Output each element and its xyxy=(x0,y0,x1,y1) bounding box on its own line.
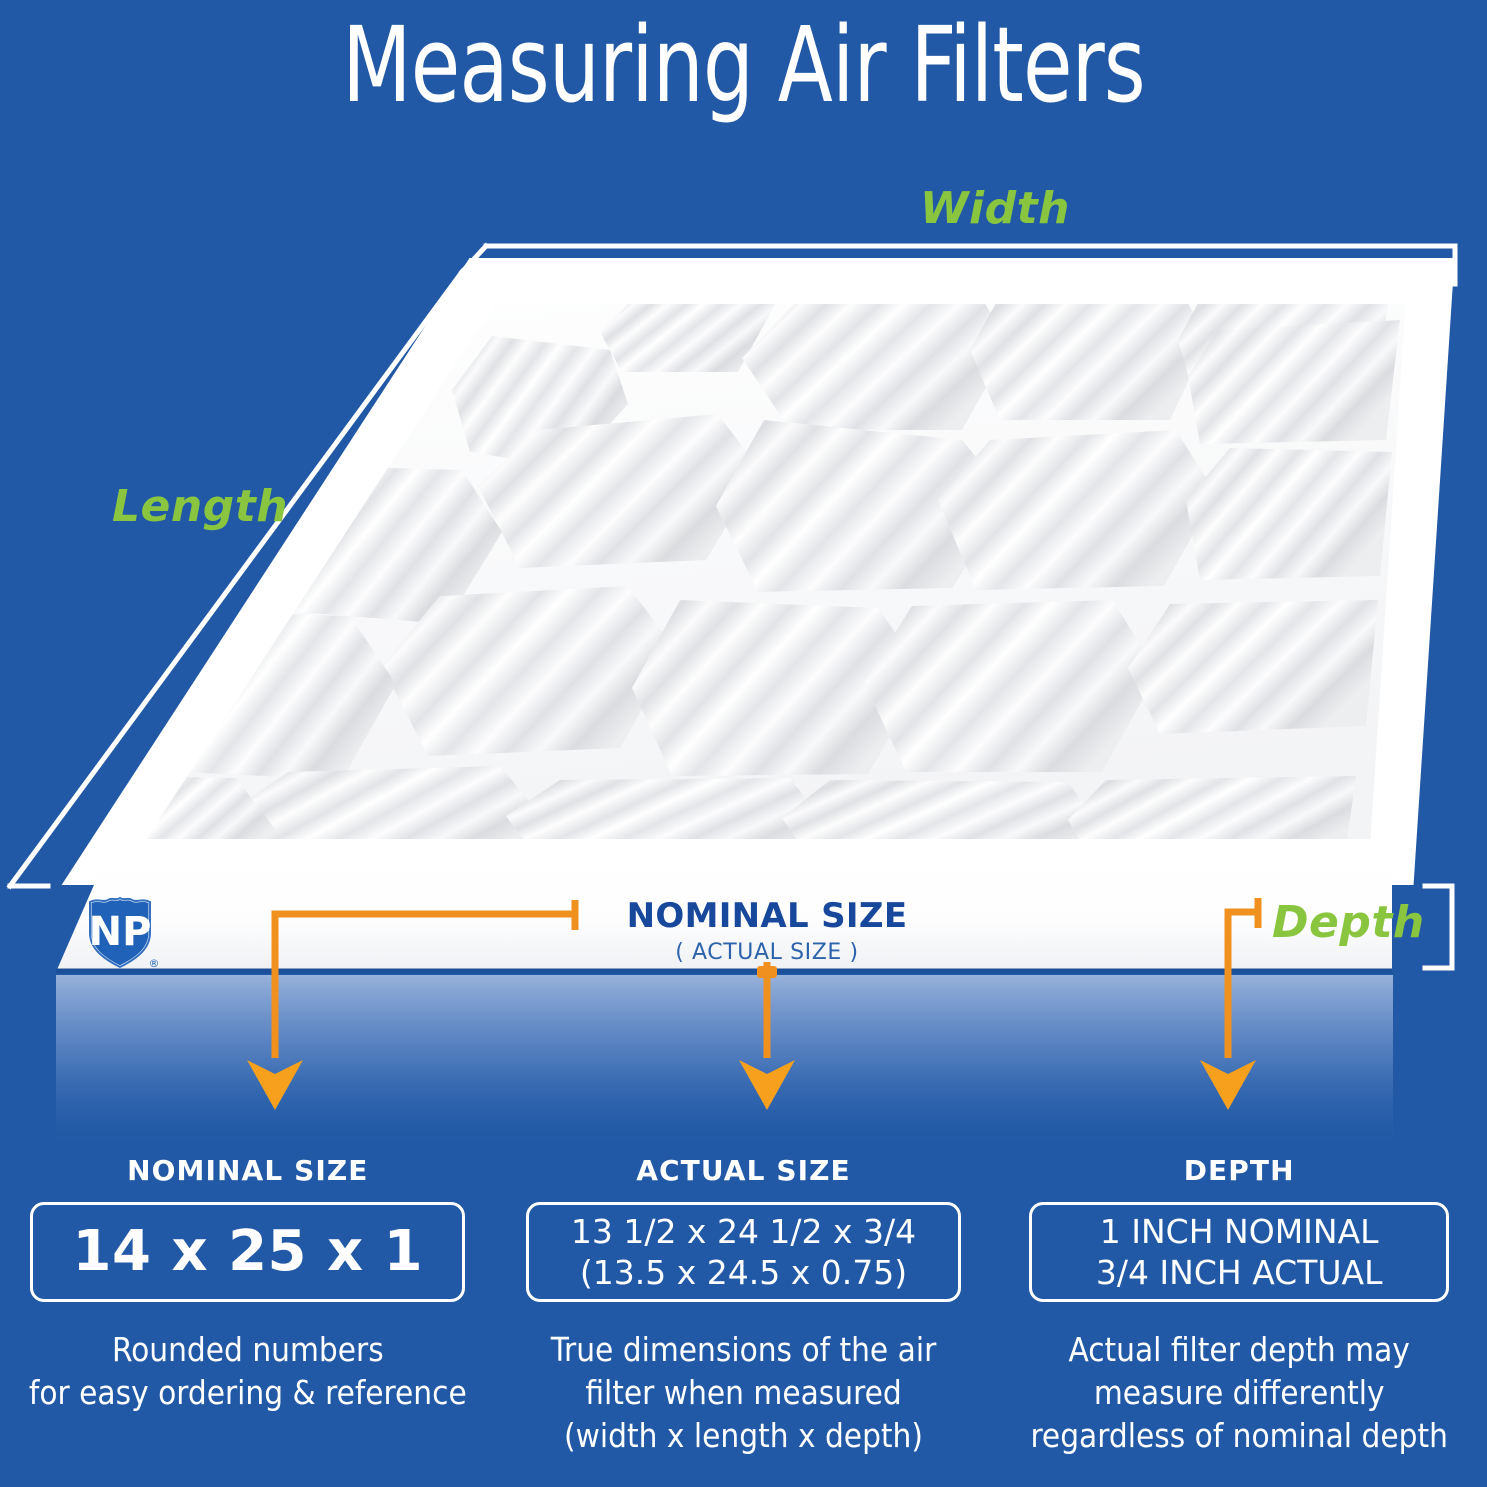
width-label: Width xyxy=(920,186,1070,232)
filter-svg xyxy=(0,0,1487,1140)
caption-line: True dimensions of the air xyxy=(504,1328,984,1371)
caption-line: Actual filter depth may xyxy=(999,1328,1479,1371)
frame-callout-main: NOMINAL SIZE xyxy=(583,898,951,934)
depth-label: Depth xyxy=(1272,900,1425,946)
frame-callout: NOMINAL SIZE ( ACTUAL SIZE ) xyxy=(583,898,951,968)
registered-mark: ® xyxy=(149,957,160,970)
column-caption-depth: Actual filter depth may measure differen… xyxy=(991,1328,1487,1457)
column-actual-size: ACTUAL SIZE 13 1/2 x 24 1/2 x 3/4 (13.5 … xyxy=(496,1136,992,1487)
actual-size-decimal: (13.5 x 24.5 x 0.75) xyxy=(580,1252,907,1293)
value-box-actual: 13 1/2 x 24 1/2 x 3/4 (13.5 x 24.5 x 0.7… xyxy=(526,1202,961,1302)
column-heading-nominal: NOMINAL SIZE xyxy=(0,1156,496,1186)
caption-line: filter when measured xyxy=(504,1371,984,1414)
infographic-root: Measuring Air Filters xyxy=(0,0,1487,1487)
column-heading-depth: DEPTH xyxy=(991,1156,1487,1186)
actual-size-fraction: 13 1/2 x 24 1/2 x 3/4 xyxy=(571,1211,916,1252)
column-depth: DEPTH 1 INCH NOMINAL 3/4 INCH ACTUAL Act… xyxy=(991,1136,1487,1487)
air-filter-illustration xyxy=(0,0,1487,1140)
np-logo-text: NP xyxy=(89,909,152,955)
caption-line: (width x length x depth) xyxy=(504,1414,984,1457)
caption-line: Rounded numbers xyxy=(8,1328,488,1371)
column-nominal-size: NOMINAL SIZE 14 x 25 x 1 Rounded numbers… xyxy=(0,1136,496,1487)
nominal-size-value: 14 x 25 x 1 xyxy=(73,1223,424,1281)
depth-actual-value: 3/4 INCH ACTUAL xyxy=(1096,1252,1383,1293)
frame-callout-sub: ( ACTUAL SIZE ) xyxy=(583,938,951,968)
value-box-nominal: 14 x 25 x 1 xyxy=(30,1202,465,1302)
value-box-depth: 1 INCH NOMINAL 3/4 INCH ACTUAL xyxy=(1029,1202,1449,1302)
depth-nominal-value: 1 INCH NOMINAL xyxy=(1100,1211,1379,1252)
length-label: Length xyxy=(112,484,288,530)
caption-line: measure differently xyxy=(999,1371,1479,1414)
caption-line: for easy ordering & reference xyxy=(8,1371,488,1414)
column-caption-actual: True dimensions of the air filter when m… xyxy=(496,1328,992,1457)
caption-line: regardless of nominal depth xyxy=(999,1414,1479,1457)
summary-columns: NOMINAL SIZE 14 x 25 x 1 Rounded numbers… xyxy=(0,1136,1487,1487)
np-shield-logo: NP ® xyxy=(78,889,162,973)
column-heading-actual: ACTUAL SIZE xyxy=(496,1156,992,1186)
column-caption-nominal: Rounded numbers for easy ordering & refe… xyxy=(0,1328,496,1414)
